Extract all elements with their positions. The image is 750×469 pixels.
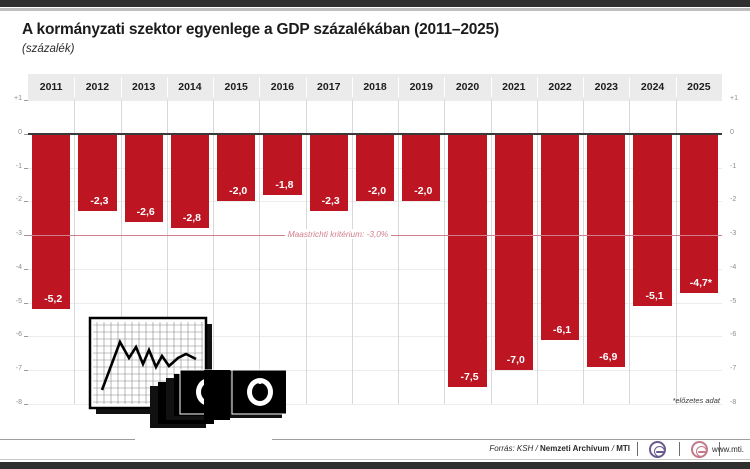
y-axis-tick-mark: [24, 303, 28, 304]
y-axis-tick-label-right: -7: [730, 365, 750, 372]
source-archive: Nemzeti Archívum: [540, 444, 610, 453]
bar-2021[interactable]: [495, 134, 533, 370]
chart-and-money-illustration: [86, 312, 286, 440]
y-axis-tick-label-right: +1: [730, 95, 750, 102]
y-axis-tick-label: -1: [2, 163, 22, 170]
bar-value-2015: -2,0: [215, 185, 261, 197]
y-axis-tick-mark: [24, 404, 28, 405]
infographic-page: A kormányzati szektor egyenlege a GDP sz…: [0, 0, 750, 469]
year-label-2011: 2011: [28, 74, 74, 100]
bar-value-2020: -7,5: [446, 371, 492, 383]
bar-2025[interactable]: [680, 134, 718, 293]
y-axis-tick-label-right: -3: [730, 230, 750, 237]
year-label-2019: 2019: [398, 74, 444, 100]
source-slash: /: [612, 444, 614, 453]
year-label-2013: 2013: [121, 74, 167, 100]
y-axis-tick-label: -4: [2, 264, 22, 271]
bottom-band-gray: [0, 459, 750, 460]
bar-value-2012: -2,3: [76, 195, 122, 207]
y-axis-tick-mark: [24, 100, 28, 101]
bar-value-2013: -2,6: [123, 206, 169, 218]
y-axis-tick-label-right: -5: [730, 298, 750, 305]
bar-value-2019: -2,0: [400, 185, 446, 197]
bar-value-2022: -6,1: [539, 324, 585, 336]
bar-value-2011: -5,2: [30, 293, 76, 305]
year-label-2018: 2018: [352, 74, 398, 100]
bar-2023[interactable]: [587, 134, 625, 367]
column-divider: [491, 100, 492, 404]
column-divider: [398, 100, 399, 404]
archivum-logo[interactable]: [691, 441, 708, 458]
mti-logo[interactable]: [649, 441, 666, 458]
column-divider: [306, 100, 307, 404]
column-divider: [629, 100, 630, 404]
y-axis-tick-label-right: -8: [730, 399, 750, 406]
y-axis-tick-mark: [24, 134, 28, 135]
bar-value-2016: -1,8: [261, 179, 307, 191]
column-divider: [444, 100, 445, 404]
year-label-2012: 2012: [74, 74, 120, 100]
year-label-2014: 2014: [167, 74, 213, 100]
bar-2011[interactable]: [32, 134, 70, 310]
bottom-band: [0, 462, 750, 469]
footer-rule-right: [272, 439, 750, 440]
source-mti: MTI: [616, 444, 630, 453]
y-axis-tick-mark: [24, 235, 28, 236]
y-axis-tick-label: -3: [2, 230, 22, 237]
y-axis-tick-mark: [24, 370, 28, 371]
y-axis-tick-mark: [24, 336, 28, 337]
column-divider: [352, 100, 353, 404]
top-band: [0, 0, 750, 7]
year-label-2017: 2017: [306, 74, 352, 100]
y-axis-tick-label-right: -1: [730, 163, 750, 170]
zero-line: [28, 133, 722, 135]
y-axis-tick-label-right: -2: [730, 196, 750, 203]
bar-value-2024: -5,1: [631, 290, 677, 302]
y-axis-tick-label-right: -4: [730, 264, 750, 271]
column-divider: [676, 100, 677, 404]
gridline: [28, 100, 722, 101]
bar-2024[interactable]: [633, 134, 671, 306]
year-header-band: 2011201220132014201520162017201820192020…: [28, 74, 722, 100]
y-axis-tick-mark: [24, 269, 28, 270]
illustration-svg: [86, 312, 286, 440]
year-label-2021: 2021: [491, 74, 537, 100]
source-credit: Forrás: KSH / Nemzeti Archívum / MTI: [489, 444, 630, 453]
column-divider: [583, 100, 584, 404]
y-axis-tick-label: -2: [2, 196, 22, 203]
bar-value-2025: -4,7*: [678, 277, 724, 289]
bar-value-2021: -7,0: [493, 354, 539, 366]
y-axis-tick-label: +1: [2, 95, 22, 102]
website-url[interactable]: www.mti.: [712, 445, 744, 454]
bar-2020[interactable]: [448, 134, 486, 387]
footer-separator-1: [637, 442, 638, 456]
bar-value-2018: -2,0: [354, 185, 400, 197]
year-label-2024: 2024: [629, 74, 675, 100]
year-label-2025: 2025: [676, 74, 722, 100]
year-label-2022: 2022: [537, 74, 583, 100]
y-axis-tick-label: -6: [2, 331, 22, 338]
y-axis-tick-label: 0: [2, 129, 22, 136]
y-axis-tick-label: -5: [2, 298, 22, 305]
top-band-gap2: [0, 11, 750, 13]
year-label-2015: 2015: [213, 74, 259, 100]
bar-value-2023: -6,9: [585, 351, 631, 363]
footnote: *előzetes adat: [672, 396, 720, 405]
year-label-2016: 2016: [259, 74, 305, 100]
column-divider: [74, 100, 75, 404]
footer-rule-left: [0, 439, 135, 440]
footer-separator-2: [679, 442, 680, 456]
source-prefix: Forrás: KSH /: [489, 444, 537, 453]
y-axis-tick-label-right: -6: [730, 331, 750, 338]
page-title: A kormányzati szektor egyenlege a GDP sz…: [22, 21, 722, 39]
year-label-2023: 2023: [583, 74, 629, 100]
year-label-2020: 2020: [444, 74, 490, 100]
column-divider: [537, 100, 538, 404]
maastricht-label: Maastrichti kritérium: -3,0%: [285, 229, 392, 239]
y-axis-tick-label: -7: [2, 365, 22, 372]
y-axis-tick-mark: [24, 201, 28, 202]
bar-2022[interactable]: [541, 134, 579, 340]
bar-value-2014: -2,8: [169, 212, 215, 224]
page-subtitle: (százalék): [22, 43, 74, 55]
y-axis-tick-label-right: 0: [730, 129, 750, 136]
y-axis-tick-label: -8: [2, 399, 22, 406]
y-axis-tick-mark: [24, 168, 28, 169]
bar-value-2017: -2,3: [308, 195, 354, 207]
